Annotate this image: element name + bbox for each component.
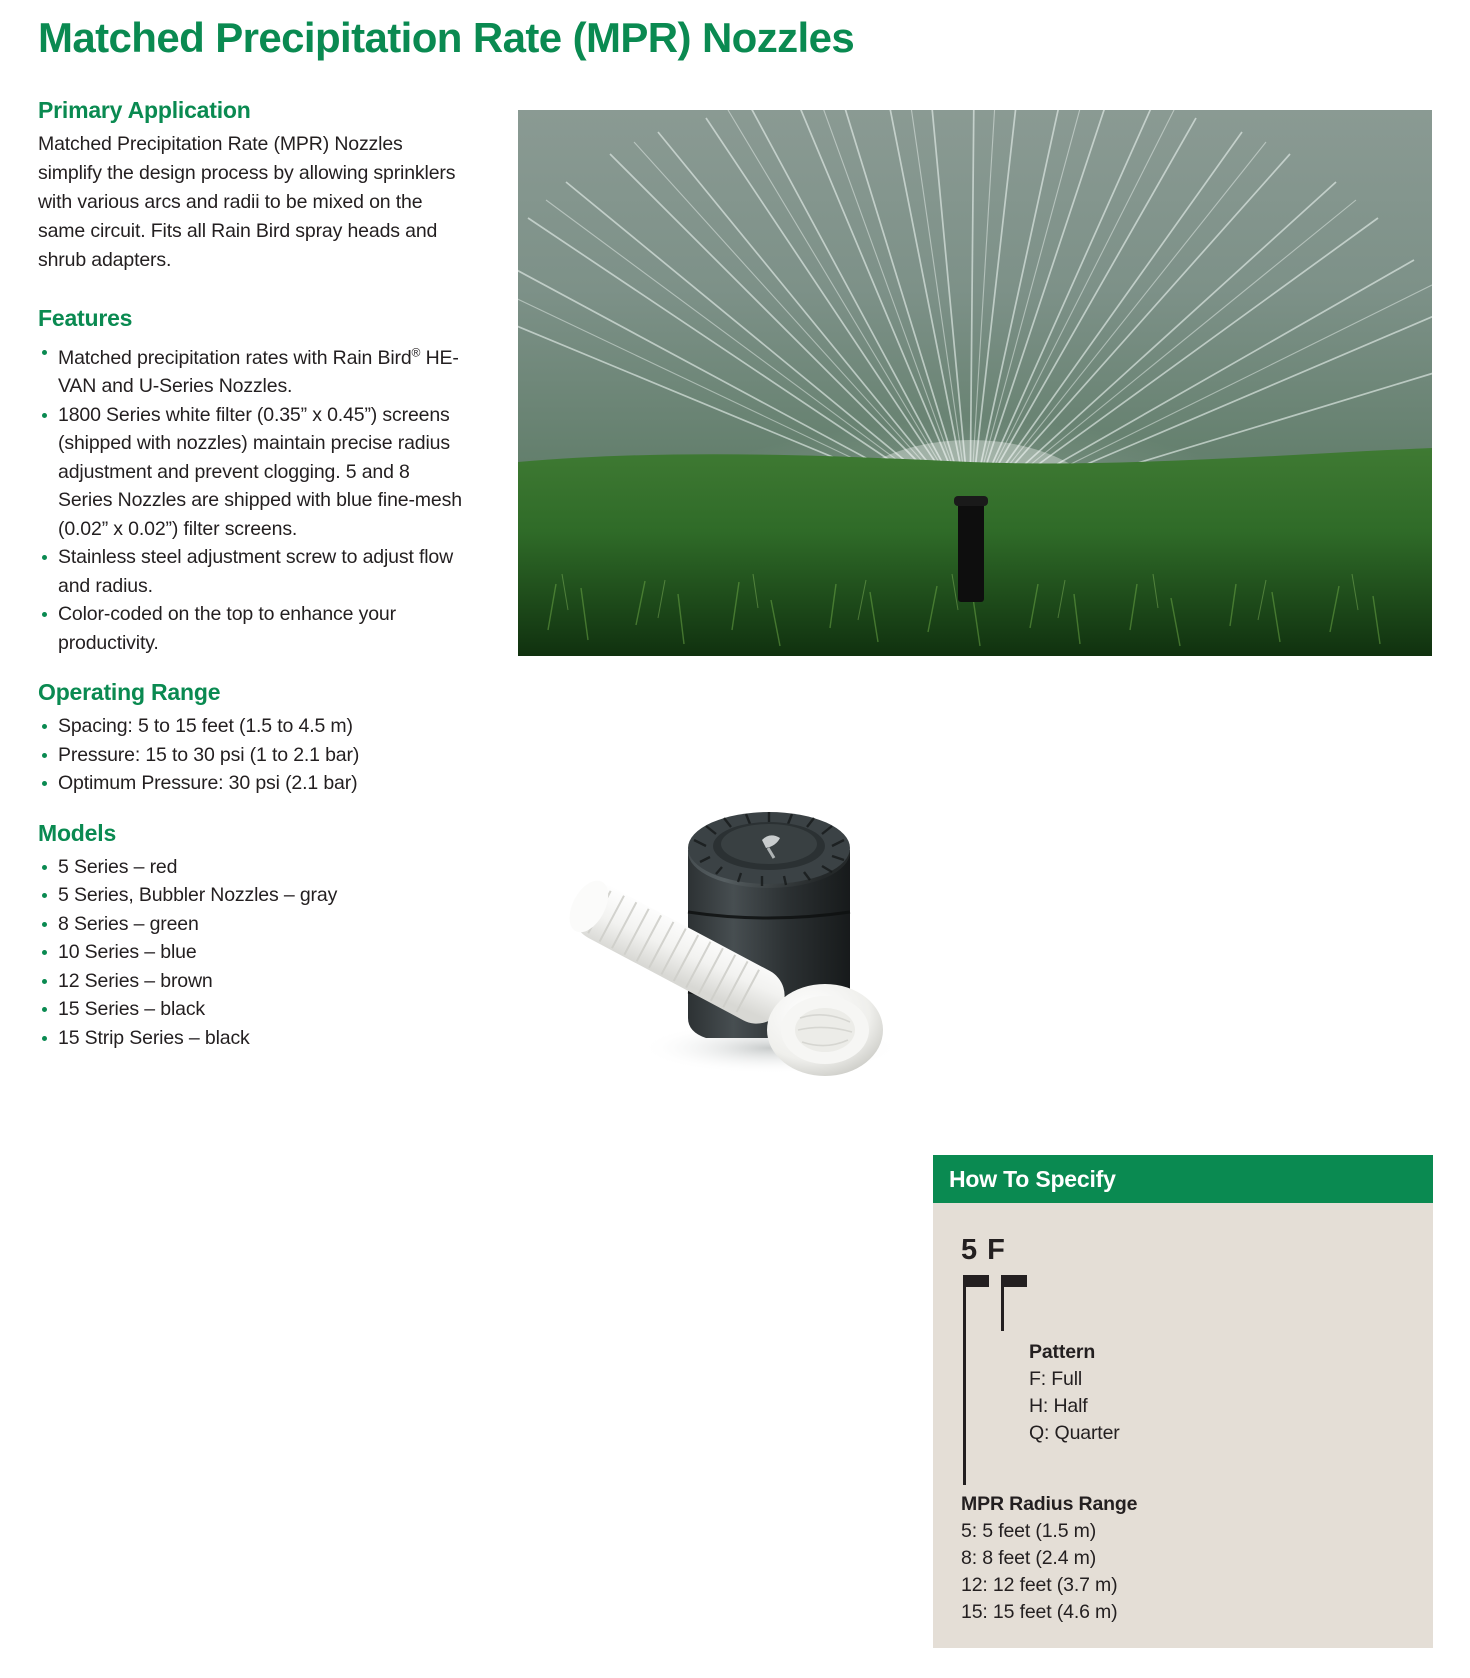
pattern-title: Pattern [1029,1339,1120,1366]
pattern-group: Pattern F: Full H: Half Q: Quarter [1029,1339,1120,1447]
leader-stem-radius [963,1287,966,1485]
pattern-option: F: Full [1029,1366,1120,1393]
spacer [38,798,468,820]
list-item: 12 Series – brown [38,967,468,996]
list-item: 1800 Series white filter (0.35” x 0.45”)… [38,401,468,544]
feature-text: Matched precipitation rates with Rain Bi… [58,347,459,398]
radius-range-option: 12: 12 feet (3.7 m) [961,1572,1137,1599]
spacer [38,275,468,305]
leader-flag-pattern [1001,1275,1027,1287]
nozzle-product-photo [500,730,960,1090]
list-item: 10 Series – blue [38,938,468,967]
leader-stem-pattern [1001,1287,1004,1331]
left-content-column: Primary Application Matched Precipitatio… [38,97,468,1052]
datasheet-page: Matched Precipitation Rate (MPR) Nozzles… [0,0,1470,1678]
list-item: Pressure: 15 to 30 psi (1 to 2.1 bar) [38,741,468,770]
section-heading-operating-range: Operating Range [38,679,468,706]
radius-range-option: 8: 8 feet (2.4 m) [961,1545,1137,1572]
section-heading-primary-application: Primary Application [38,97,468,124]
list-item: 15 Strip Series – black [38,1024,468,1053]
radius-range-title: MPR Radius Range [961,1491,1137,1518]
list-item: 5 Series – red [38,853,468,882]
radius-range-option: 5: 5 feet (1.5 m) [961,1518,1137,1545]
model-text: 5 Series – red [58,856,177,878]
model-text: 12 Series – brown [58,970,213,992]
how-to-specify-header: How To Specify [933,1155,1433,1203]
feature-text: Stainless steel adjustment screw to adju… [58,546,453,597]
model-text: 8 Series – green [58,913,199,935]
pattern-option: H: Half [1029,1393,1120,1420]
list-item: Matched precipitation rates with Rain Bi… [38,338,468,401]
features-list: Matched precipitation rates with Rain Bi… [38,338,468,657]
radius-range-group: MPR Radius Range 5: 5 feet (1.5 m) 8: 8 … [961,1491,1137,1626]
pattern-option: Q: Quarter [1029,1420,1120,1447]
list-item: 8 Series – green [38,910,468,939]
list-item: 15 Series – black [38,995,468,1024]
section-heading-models: Models [38,820,468,847]
sprinkler-spray-photo [518,110,1432,656]
list-item: Optimum Pressure: 30 psi (2.1 bar) [38,769,468,798]
page-title: Matched Precipitation Rate (MPR) Nozzles [38,14,854,62]
model-text: 5 Series, Bubbler Nozzles – gray [58,884,337,906]
operating-range-list: Spacing: 5 to 15 feet (1.5 to 4.5 m) Pre… [38,712,468,798]
list-item: Stainless steel adjustment screw to adju… [38,543,468,600]
list-item: Color-coded on the top to enhance your p… [38,600,468,657]
model-code-example: 5 F [961,1233,1433,1267]
models-list: 5 Series – red 5 Series, Bubbler Nozzles… [38,853,468,1053]
spacer [38,657,468,679]
operating-range-text: Pressure: 15 to 30 psi (1 to 2.1 bar) [58,744,359,766]
leader-flag-radius [963,1275,989,1287]
feature-text: Color-coded on the top to enhance your p… [58,603,396,654]
radius-range-option: 15: 15 feet (4.6 m) [961,1599,1137,1626]
operating-range-text: Spacing: 5 to 15 feet (1.5 to 4.5 m) [58,715,353,737]
list-item: 5 Series, Bubbler Nozzles – gray [38,881,468,910]
model-text: 15 Strip Series – black [58,1027,250,1049]
how-to-specify-body: 5 F Pattern F: Full H: Half Q: Quarter M… [933,1203,1433,1648]
how-to-specify-title: How To Specify [949,1166,1116,1193]
list-item: Spacing: 5 to 15 feet (1.5 to 4.5 m) [38,712,468,741]
section-heading-features: Features [38,305,468,332]
operating-range-text: Optimum Pressure: 30 psi (2.1 bar) [58,772,357,794]
how-to-specify-panel: How To Specify 5 F Pattern F: Full H: Ha… [933,1155,1433,1648]
primary-application-body: Matched Precipitation Rate (MPR) Nozzles… [38,130,468,275]
model-text: 15 Series – black [58,998,205,1020]
model-text: 10 Series – blue [58,941,197,963]
feature-text: 1800 Series white filter (0.35” x 0.45”)… [58,404,462,540]
